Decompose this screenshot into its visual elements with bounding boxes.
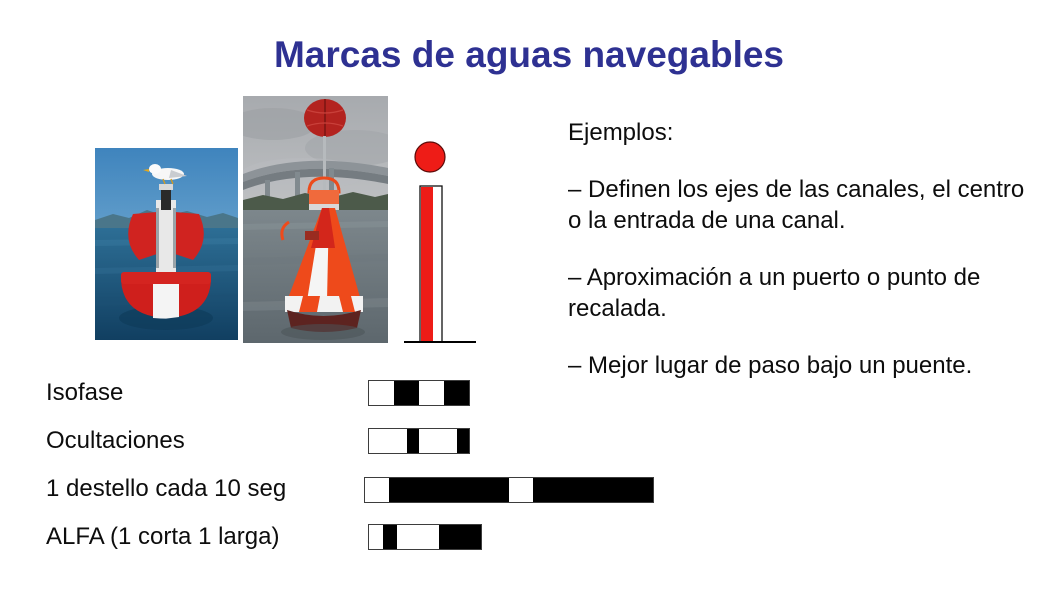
- photo-buoy-gull: [95, 148, 238, 340]
- light-label-alfa: ALFA (1 corta 1 larga): [46, 522, 279, 552]
- light-segment-off: [533, 478, 653, 502]
- light-pattern-bar-ocultaciones: [368, 428, 470, 454]
- light-segment-off: [444, 381, 469, 405]
- light-segment-off: [439, 525, 481, 549]
- light-row-alfa: ALFA (1 corta 1 larga): [46, 522, 686, 570]
- light-segment-off: [383, 525, 397, 549]
- light-segment-off: [394, 381, 419, 405]
- light-segment-off: [389, 478, 509, 502]
- page-title: Marcas de aguas navegables: [0, 34, 1058, 76]
- light-label-ocultaciones: Ocultaciones: [46, 426, 185, 456]
- light-label-isofase: Isofase: [46, 378, 123, 408]
- example-item-3: – Mejor lugar de paso bajo un puente.: [568, 350, 1040, 381]
- light-segment-on: [369, 525, 383, 549]
- light-segment-on: [419, 429, 457, 453]
- light-pattern-bar-destello: [364, 477, 654, 503]
- example-item-2: – Aproximación a un puerto o punto de re…: [568, 262, 1040, 324]
- photo-buoy-bridge: [243, 96, 388, 343]
- light-segment-on: [509, 478, 533, 502]
- buoy-schematic-diagram: [398, 140, 480, 348]
- light-segment-on: [397, 525, 439, 549]
- light-pattern-bar-isofase: [368, 380, 470, 406]
- example-item-1: – Definen los ejes de las canales, el ce…: [568, 174, 1040, 236]
- light-segment-on: [369, 429, 407, 453]
- light-row-isofase: Isofase: [46, 378, 686, 426]
- light-segment-on: [419, 381, 444, 405]
- light-characteristics-table: Isofase Ocultaciones 1 destello cada 10 …: [46, 378, 686, 570]
- light-row-destello: 1 destello cada 10 seg: [46, 474, 686, 522]
- light-segment-on: [365, 478, 389, 502]
- light-segment-off: [407, 429, 420, 453]
- light-pattern-bar-alfa: [368, 524, 482, 550]
- schematic-topmark-sphere: [415, 142, 445, 172]
- schematic-pillar-red-stripe: [421, 187, 433, 341]
- examples-heading: Ejemplos:: [568, 117, 1040, 148]
- light-segment-on: [369, 381, 394, 405]
- light-segment-off: [457, 429, 470, 453]
- examples-block: Ejemplos: – Definen los ejes de las cana…: [568, 117, 1040, 381]
- light-row-ocultaciones: Ocultaciones: [46, 426, 686, 474]
- light-label-destello: 1 destello cada 10 seg: [46, 474, 286, 504]
